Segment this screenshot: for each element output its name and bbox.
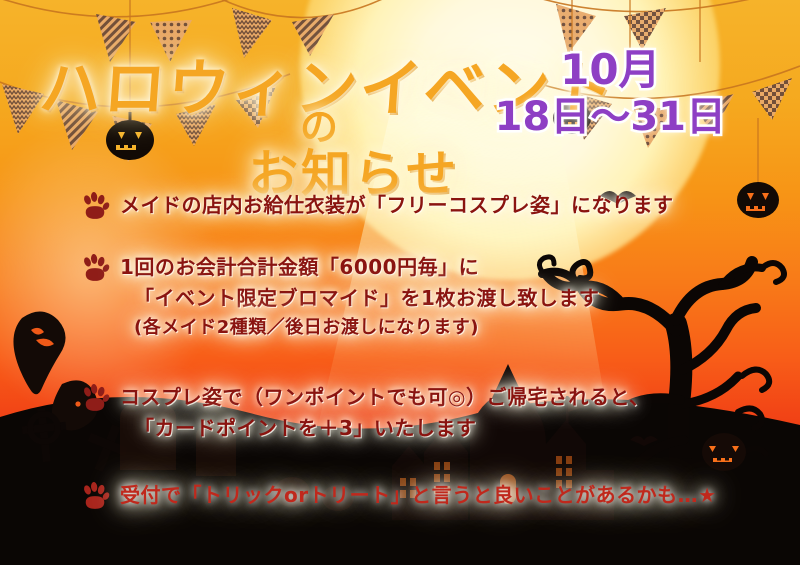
bullet-line: コスプレ姿で（ワンポイントでも可◎）ご帰宅されると、 <box>120 382 650 413</box>
bullet-line: 「イベント限定ブロマイド」を1枚お渡し致します <box>120 283 599 314</box>
halloween-event-poster: ハロウィンイベント の お知らせ 10月 18日〜31日 メイドの店内お給仕衣装… <box>0 0 800 565</box>
paw-print-icon <box>80 192 110 222</box>
ghost-silhouette <box>13 311 65 394</box>
bullet-line: 1回のお会計合計金額「6000円毎」に <box>120 252 599 283</box>
bullet-item-4: 受付で「トリックorトリート」と言うと良いことがあるかも…★ <box>80 480 717 512</box>
bullet-lines: コスプレ姿で（ワンポイントでも可◎）ご帰宅されると、 「カードポイントを＋3」い… <box>120 382 650 444</box>
bullet-item-3: コスプレ姿で（ワンポイントでも可◎）ご帰宅されると、 「カードポイントを＋3」い… <box>80 382 650 444</box>
bullet-line-note: (各メイド2種類／後日お渡しになります) <box>120 314 599 342</box>
paw-print-icon <box>80 384 110 414</box>
bullet-line: メイドの店内お給仕衣装が「フリーコスプレ姿」になります <box>120 190 674 221</box>
paw-print-icon <box>80 254 110 284</box>
bullet-lines: メイドの店内お給仕衣装が「フリーコスプレ姿」になります <box>120 190 674 221</box>
paw-print-icon <box>80 482 110 512</box>
bullet-item-1: メイドの店内お給仕衣装が「フリーコスプレ姿」になります <box>80 190 674 222</box>
bullet-lines: 受付で「トリックorトリート」と言うと良いことがあるかも…★ <box>120 480 717 511</box>
bullet-item-2: 1回のお会計合計金額「6000円毎」に 「イベント限定ブロマイド」を1枚お渡し致… <box>80 252 599 342</box>
bullet-lines: 1回のお会計合計金額「6000円毎」に 「イベント限定ブロマイド」を1枚お渡し致… <box>120 252 599 342</box>
bullet-line: 「カードポイントを＋3」いたします <box>120 413 650 444</box>
bullet-line: 受付で「トリックorトリート」と言うと良いことがあるかも…★ <box>120 480 717 511</box>
